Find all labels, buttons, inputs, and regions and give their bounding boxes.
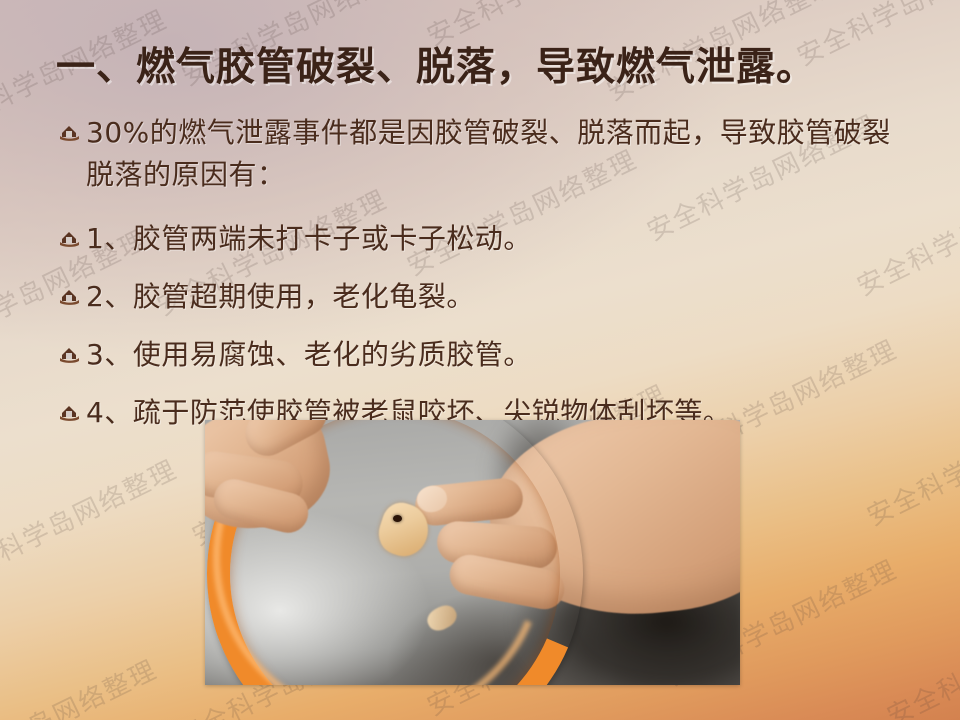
list-item-text: 3、使用易腐蚀、老化的劣质胶管。 <box>86 334 532 376</box>
hand-pointing-bullet-icon <box>58 340 82 370</box>
list-item: 3、使用易腐蚀、老化的劣质胶管。 <box>58 334 918 376</box>
list-item-text: 1、胶管两端未打卡子或卡子松动。 <box>86 218 532 260</box>
list-item: 1、胶管两端未打卡子或卡子松动。 <box>58 218 918 260</box>
list-item: 30%的燃气泄露事件都是因胶管破裂、脱落而起，导致胶管破裂脱落的原因有： <box>58 112 918 196</box>
hand-pointing-bullet-icon <box>58 398 82 428</box>
watermark-text: 安全科学岛网络整理 <box>880 590 960 720</box>
hand-pointing-bullet-icon <box>58 282 82 312</box>
slide-canvas: 安全科学岛网络整理安全科学岛网络整理安全科学岛网络整理安全科学岛网络整理安全科学… <box>0 0 960 720</box>
gas-hose-photo <box>205 420 740 685</box>
list-item: 2、胶管超期使用，老化龟裂。 <box>58 276 918 318</box>
list-item-text: 30%的燃气泄露事件都是因胶管破裂、脱落而起，导致胶管破裂脱落的原因有： <box>86 112 916 196</box>
bullet-list: 30%的燃气泄露事件都是因胶管破裂、脱落而起，导致胶管破裂脱落的原因有： 1、胶… <box>58 112 918 450</box>
watermark-text: 安全科学岛网络整理 <box>0 450 183 594</box>
hose-puncture-hole <box>393 515 402 522</box>
list-item-text: 2、胶管超期使用，老化龟裂。 <box>86 276 475 318</box>
hand-pointing-bullet-icon <box>58 118 82 148</box>
hand-pointing-bullet-icon <box>58 224 82 254</box>
watermark-text: 安全科学岛网络整理 <box>0 650 163 720</box>
page-title: 一、燃气胶管破裂、脱落，导致燃气泄露。 <box>56 36 816 92</box>
photo-background <box>205 420 740 685</box>
